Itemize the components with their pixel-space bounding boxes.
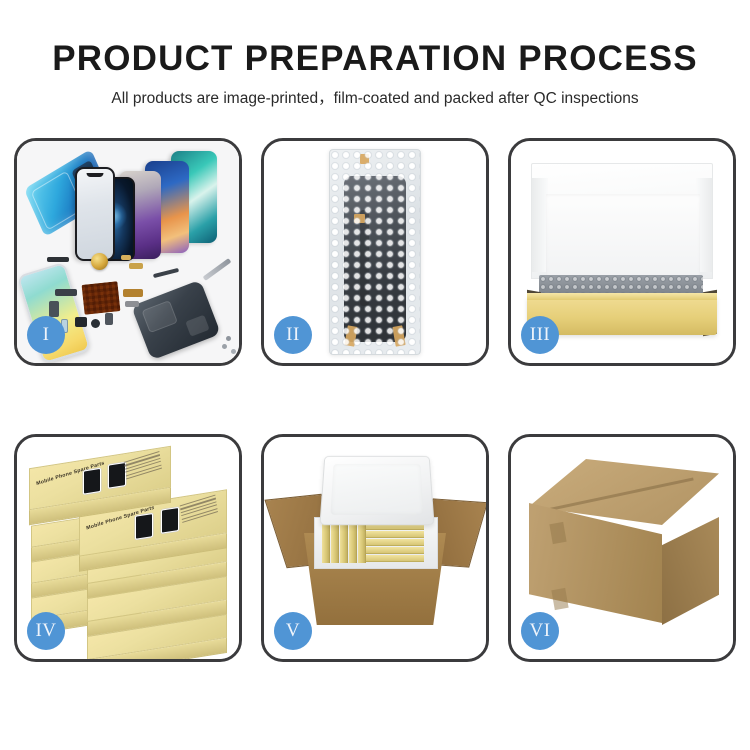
retail-box-edge <box>340 523 348 563</box>
part-chip <box>47 257 69 262</box>
part-chip <box>125 301 139 307</box>
part-chip <box>49 301 59 317</box>
sealed-carton <box>529 459 719 635</box>
process-step-6: VI <box>508 434 736 662</box>
step-badge-6: VI <box>521 612 559 650</box>
step-badge-2: II <box>274 316 312 354</box>
wrapped-screen-assembly <box>344 176 406 342</box>
box-label-screen-image <box>83 468 101 495</box>
box-top-rim <box>527 293 717 300</box>
retail-box-edge <box>349 523 357 563</box>
part-flex-cable <box>153 268 179 278</box>
carton-contents <box>322 523 430 563</box>
tape-strip <box>354 214 365 223</box>
retail-box-face <box>366 531 424 538</box>
part-chip <box>129 263 143 269</box>
process-step-1: I <box>14 138 242 366</box>
retail-box-edge <box>331 523 339 563</box>
box-label-spec-lines <box>180 495 219 526</box>
screen-protector-glass <box>75 167 115 261</box>
phone-back-housing <box>131 280 221 361</box>
stacked-box <box>87 625 227 649</box>
page-title: PRODUCT PREPARATION PROCESS <box>0 38 750 80</box>
bubble-wrap-sleeve <box>329 149 421 355</box>
part-chip <box>91 319 100 328</box>
step-badge-4: IV <box>27 612 65 650</box>
box-label-spec-lines <box>124 451 163 482</box>
screws-part <box>222 344 227 349</box>
tape-strip <box>344 325 357 346</box>
part-chip <box>123 289 143 297</box>
box-lid-white <box>531 163 713 279</box>
open-carton <box>278 451 474 643</box>
step-badge-1: I <box>27 316 65 354</box>
foam-liner-lid <box>319 456 434 525</box>
step-badge-5: V <box>274 612 312 650</box>
carton-side-face <box>662 517 719 625</box>
retail-box-face <box>366 547 424 554</box>
retail-box-edge <box>322 523 330 563</box>
part-chip <box>121 255 131 260</box>
process-step-grid: I II <box>14 138 736 662</box>
part-chip <box>75 317 87 327</box>
phone-display-fan <box>75 149 225 261</box>
part-chip <box>55 289 77 296</box>
tape-strip <box>360 154 369 164</box>
retail-box-edge <box>358 523 366 563</box>
page-header: PRODUCT PREPARATION PROCESS All products… <box>0 0 750 110</box>
speaker-coil-part <box>91 253 108 270</box>
retail-box-face <box>366 555 424 562</box>
part-chip <box>105 313 113 325</box>
process-step-3: III <box>508 138 736 366</box>
box-label-screen-image <box>161 507 179 534</box>
box-label-screen-image <box>135 513 153 540</box>
page-subtitle: All products are image-printed，film-coat… <box>0 88 750 110</box>
step-badge-3: III <box>521 316 559 354</box>
stacked-box <box>87 587 227 611</box>
logic-board-part <box>82 281 121 315</box>
open-kraft-box <box>525 163 719 339</box>
process-step-2: II <box>261 138 489 366</box>
screwdriver-tool <box>203 258 232 281</box>
process-step-4: Mobile Phone Spare Parts Mobile Phone Sp… <box>14 434 242 662</box>
retail-box-face <box>366 539 424 546</box>
lid-inner-face <box>546 194 700 276</box>
process-step-5: V <box>261 434 489 662</box>
